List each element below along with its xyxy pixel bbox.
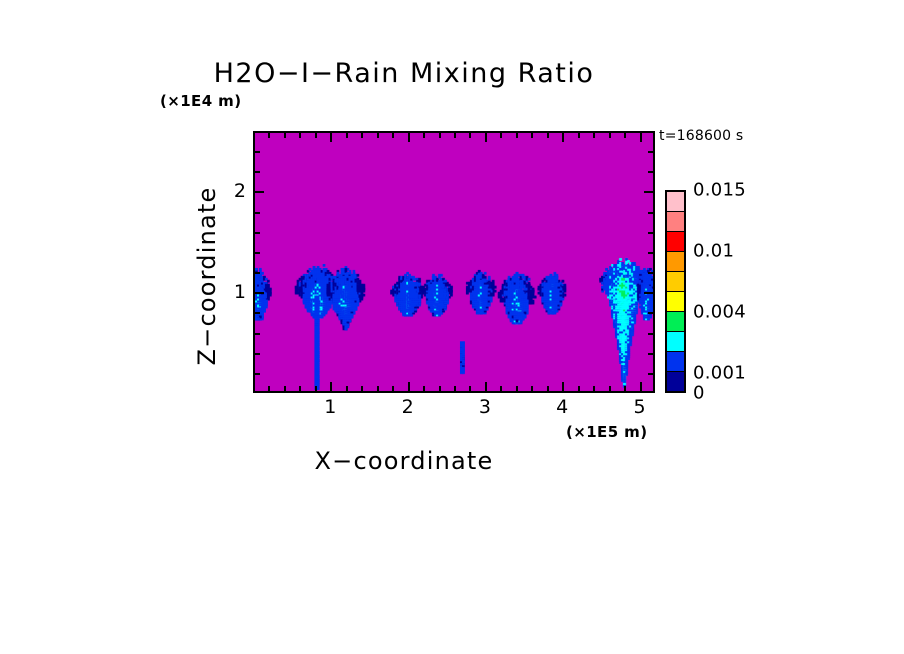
x-tick-bottom [485,382,487,391]
y-tick-left [255,151,260,153]
x-tick-bottom [361,386,363,391]
y-tick-right [648,333,653,335]
y-tick-right [648,151,653,153]
x-tick-top [547,133,549,138]
y-tick-left [255,171,260,173]
y-tick-left [255,191,264,193]
x-tick-top [268,133,270,138]
y-tick-left [255,232,260,234]
y-tick-left [255,292,264,294]
colorbar-band [667,272,684,292]
y-tick-right [644,292,653,294]
x-tick-bottom [469,386,471,391]
x-tick-top [299,133,301,138]
x-tick-bottom [640,382,642,391]
figure-canvas: H2O−I−Rain Mixing Ratio (×1E4 m) (×1E5 m… [0,0,904,654]
y-tick-right [648,312,653,314]
x-tick-bottom [346,386,348,391]
y-tick-right [644,191,653,193]
colorbar-tick-label: 0.004 [693,301,746,322]
colorbar-tick-label: 0.001 [693,362,746,383]
x-axis-units-label: (×1E5 m) [566,423,647,441]
page-title: H2O−I−Rain Mixing Ratio [0,58,856,89]
x-tick-top [562,133,564,142]
x-tick-top [593,133,595,138]
x-tick-bottom [624,386,626,391]
x-tick-top [485,133,487,142]
x-tick-bottom [299,386,301,391]
x-tick-top [609,133,611,138]
x-tick-label: 3 [479,396,491,418]
x-tick-bottom [284,386,286,391]
colorbar-band [667,312,684,332]
colorbar-band [667,372,684,391]
x-tick-top [439,133,441,138]
colorbar-band [667,212,684,232]
x-tick-label: 4 [556,396,568,418]
colorbar [665,190,686,393]
x-tick-bottom [500,386,502,391]
x-tick-bottom [531,386,533,391]
x-tick-top [469,133,471,138]
y-tick-right [648,252,653,254]
x-tick-bottom [593,386,595,391]
x-tick-top [392,133,394,138]
colorbar-band [667,192,684,212]
colorbar-band [667,232,684,252]
y-tick-right [648,232,653,234]
x-tick-bottom [408,382,410,391]
x-tick-bottom [562,382,564,391]
colorbar-tick-label: 0.01 [693,240,734,261]
y-tick-label: 1 [224,281,246,303]
y-axis-title: Z−coordinate [193,66,221,486]
x-tick-top [423,133,425,138]
x-tick-top [578,133,580,138]
x-tick-top [346,133,348,138]
x-tick-bottom [454,386,456,391]
x-tick-bottom [547,386,549,391]
x-tick-top [624,133,626,138]
colorbar-band [667,292,684,312]
x-tick-top [454,133,456,138]
x-tick-bottom [392,386,394,391]
colorbar-labels: 0.0150.010.0040.0010 [693,190,803,393]
x-tick-top [330,133,332,142]
x-tick-top [377,133,379,138]
x-tick-label: 1 [324,396,336,418]
y-tick-label: 2 [224,180,246,202]
x-tick-top [640,133,642,142]
x-tick-bottom [315,386,317,391]
colorbar-band [667,332,684,352]
x-tick-bottom [578,386,580,391]
y-tick-right [648,373,653,375]
y-tick-left [255,252,260,254]
timestamp-annotation: t=168600 s [659,128,743,144]
x-tick-top [408,133,410,142]
colorbar-band [667,252,684,272]
x-tick-top [500,133,502,138]
x-tick-bottom [423,386,425,391]
plot-area [253,131,655,393]
colorbar-tick-label: 0.015 [693,180,746,201]
y-tick-right [648,171,653,173]
colorbar-tick-label: 0 [693,383,705,404]
y-tick-right [648,353,653,355]
y-tick-right [648,272,653,274]
y-tick-left [255,212,260,214]
x-tick-bottom [330,382,332,391]
y-tick-left [255,312,260,314]
x-tick-top [361,133,363,138]
colorbar-band [667,352,684,372]
x-tick-bottom [377,386,379,391]
x-tick-label: 5 [633,396,645,418]
x-tick-bottom [439,386,441,391]
x-tick-bottom [609,386,611,391]
y-tick-right [648,212,653,214]
y-tick-left [255,353,260,355]
y-tick-left [255,333,260,335]
x-tick-top [284,133,286,138]
x-axis-title: X−coordinate [0,447,856,475]
y-tick-left [255,272,260,274]
x-tick-bottom [516,386,518,391]
x-tick-label: 2 [402,396,414,418]
heatmap-canvas [255,133,653,391]
x-tick-bottom [268,386,270,391]
x-tick-top [516,133,518,138]
x-tick-top [315,133,317,138]
x-tick-top [531,133,533,138]
y-tick-left [255,373,260,375]
